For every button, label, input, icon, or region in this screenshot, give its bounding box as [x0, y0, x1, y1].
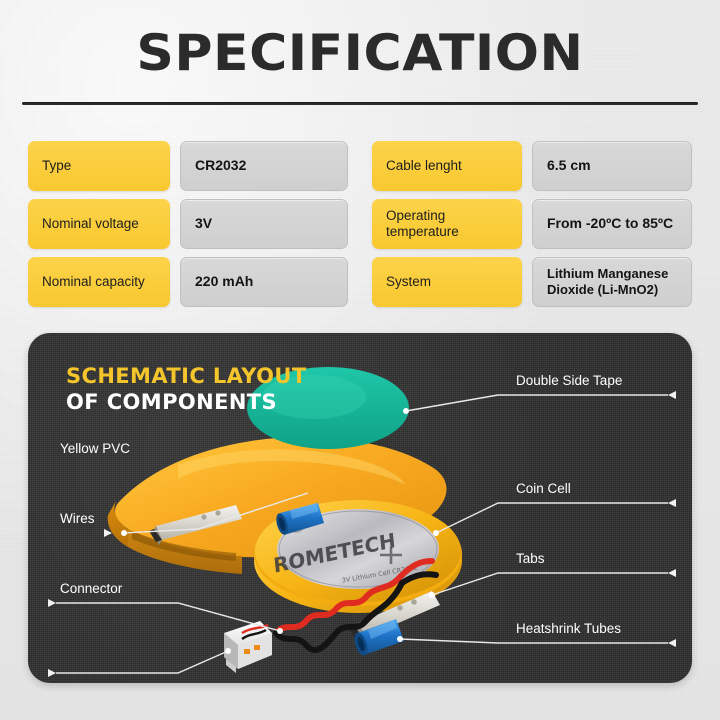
- callout-coin-cell: Coin Cell: [516, 481, 571, 496]
- spec-row: Cable lenght 6.5 cm: [372, 141, 692, 191]
- callout-connector: Connector: [60, 581, 122, 596]
- spec-key: Type: [28, 141, 170, 191]
- spec-value: 220 mAh: [180, 257, 348, 307]
- callout-tabs: Tabs: [516, 551, 545, 566]
- spec-key: Operating temperature: [372, 199, 522, 249]
- spec-key: System: [372, 257, 522, 307]
- spec-column-right: Cable lenght 6.5 cm Operating temperatur…: [372, 141, 692, 307]
- spec-row: Type CR2032: [28, 141, 348, 191]
- spec-row: Operating temperature From -20ºC to 85ºC: [372, 199, 692, 249]
- schematic-panel: SCHEMATIC LAYOUT OF COMPONENTS: [28, 333, 692, 683]
- callout-wires: Wires: [60, 511, 95, 526]
- spec-row: System Lithium Manganese Dioxide (Li-MnO…: [372, 257, 692, 307]
- spec-column-left: Type CR2032 Nominal voltage 3V Nominal c…: [28, 141, 348, 307]
- callout-heatshrink-tubes: Heatshrink Tubes: [516, 621, 621, 636]
- spec-row: Nominal voltage 3V: [28, 199, 348, 249]
- spec-key: Cable lenght: [372, 141, 522, 191]
- spec-value: 6.5 cm: [532, 141, 692, 191]
- schematic-title-line1: SCHEMATIC LAYOUT: [66, 363, 307, 389]
- schematic-title: SCHEMATIC LAYOUT OF COMPONENTS: [66, 363, 307, 416]
- page-title-wrap: SPECIFICATION: [0, 28, 720, 78]
- spec-key: Nominal voltage: [28, 199, 170, 249]
- spec-key: Nominal capacity: [28, 257, 170, 307]
- spec-value: From -20ºC to 85ºC: [532, 199, 692, 249]
- spec-value: Lithium Manganese Dioxide (Li-MnO2): [532, 257, 692, 307]
- callout-yellow-pvc: Yellow PVC: [60, 441, 130, 456]
- title-divider: [22, 102, 698, 105]
- specification-table: Type CR2032 Nominal voltage 3V Nominal c…: [28, 141, 692, 307]
- spec-value: 3V: [180, 199, 348, 249]
- page-title: SPECIFICATION: [0, 28, 720, 78]
- spec-value: CR2032: [180, 141, 348, 191]
- schematic-title-line2: OF COMPONENTS: [66, 389, 307, 415]
- spec-infographic: SPECIFICATION Type CR2032 Nominal voltag…: [0, 0, 720, 720]
- spec-row: Nominal capacity 220 mAh: [28, 257, 348, 307]
- callout-double-side-tape: Double Side Tape: [516, 373, 622, 388]
